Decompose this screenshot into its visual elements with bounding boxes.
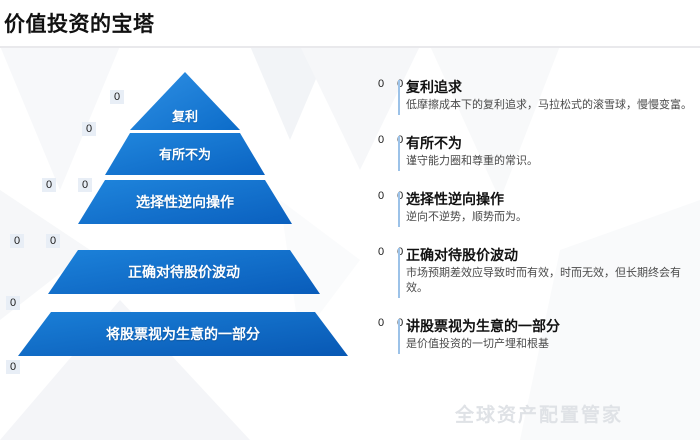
header-bar: 价值投资的宝塔	[0, 0, 700, 46]
item-description: 谨守能力圈和尊重的常识。	[406, 154, 696, 169]
item-marker-zeros: 0 0	[378, 134, 408, 146]
pyramid-layer-1[interactable]: 复利	[130, 72, 240, 132]
page-title: 价值投资的宝塔	[4, 8, 155, 38]
item-title: 选择性逆向操作	[406, 190, 696, 208]
pyramid-diagram: 0 0 0 0 0 0 0 0 复利	[0, 60, 350, 440]
item-description: 逆向不逆势，顺势而为。	[406, 210, 696, 225]
pyramid-layer-4[interactable]: 正确对待股价波动	[48, 250, 320, 296]
header-divider	[0, 46, 700, 48]
item-title: 讲股票视为生意的一部分	[406, 317, 696, 335]
list-item[interactable]: 0 0 选择性逆向操作 逆向不逆势，顺势而为。	[378, 190, 696, 225]
pyramid-marker-0: 0	[114, 91, 120, 103]
detail-list: 0 0 复利追求 低摩擦成本下的复利追求，马拉松式的滚雪球，慢慢变富。 0 0 …	[378, 78, 696, 373]
item-title: 有所不为	[406, 134, 696, 152]
pyramid-marker-4: 0	[14, 235, 20, 247]
list-item[interactable]: 0 0 有所不为 谨守能力圈和尊重的常识。	[378, 134, 696, 169]
item-accent-bar	[398, 136, 400, 171]
item-title: 复利追求	[406, 78, 696, 96]
item-description: 市场预期差效应导致时而有效，时而无效，但长期终会有效。	[406, 266, 696, 296]
item-marker-zeros: 0 0	[378, 317, 408, 329]
pyramid-layer-5[interactable]: 将股票视为生意的一部分	[18, 312, 348, 358]
list-item[interactable]: 0 0 复利追求 低摩擦成本下的复利追求，马拉松式的滚雪球，慢慢变富。	[378, 78, 696, 113]
pyramid-marker-5: 0	[50, 235, 56, 247]
slide-page: 价值投资的宝塔 0 0 0 0 0 0 0 0	[0, 0, 700, 440]
pyramid-marker-1: 0	[86, 123, 92, 135]
item-marker-zeros: 0 0	[378, 246, 408, 258]
pyramid-layer-3-label: 选择性逆向操作	[78, 192, 292, 212]
item-accent-bar	[398, 319, 400, 354]
list-item[interactable]: 0 0 正确对待股价波动 市场预期差效应导致时而有效，时而无效，但长期终会有效。	[378, 246, 696, 296]
item-description: 是价值投资的一切产埋和根基	[406, 337, 696, 352]
pyramid-marker-6: 0	[10, 297, 16, 309]
item-accent-bar	[398, 80, 400, 115]
item-accent-bar	[398, 192, 400, 227]
pyramid-layer-3[interactable]: 选择性逆向操作	[78, 180, 292, 226]
pyramid-layer-2[interactable]: 有所不为	[105, 133, 265, 177]
pyramid-marker-2: 0	[46, 179, 52, 191]
pyramid-layer-2-label: 有所不为	[105, 144, 265, 163]
pyramid-layer-4-label: 正确对待股价波动	[48, 262, 320, 282]
item-title: 正确对待股价波动	[406, 246, 696, 264]
watermark: 全球资产配置管家	[455, 400, 623, 427]
pyramid-marker-7: 0	[10, 361, 16, 373]
list-item[interactable]: 0 0 讲股票视为生意的一部分 是价值投资的一切产埋和根基	[378, 317, 696, 352]
item-marker-zeros: 0 0	[378, 190, 408, 202]
pyramid-layer-5-label: 将股票视为生意的一部分	[18, 324, 348, 344]
item-marker-zeros: 0 0	[378, 78, 408, 90]
item-description: 低摩擦成本下的复利追求，马拉松式的滚雪球，慢慢变富。	[406, 98, 696, 113]
item-accent-bar	[398, 248, 400, 298]
pyramid-layer-1-label: 复利	[130, 106, 240, 125]
